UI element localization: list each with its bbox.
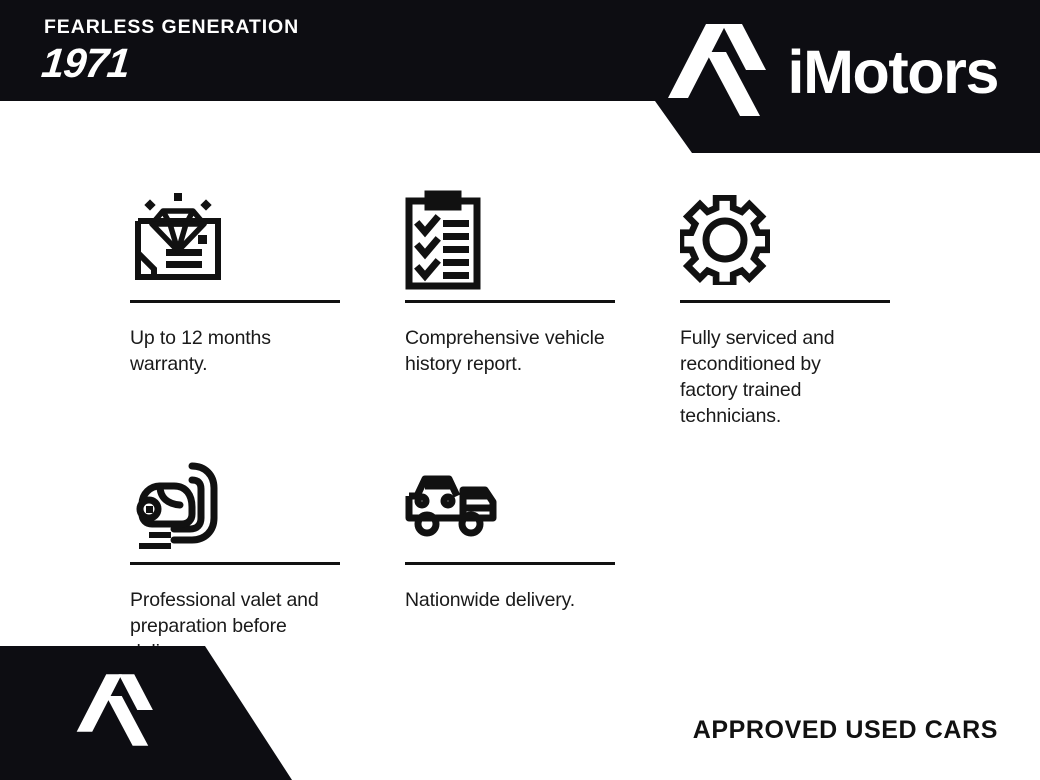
feature-text: Up to 12 months warranty. (130, 325, 345, 377)
feature-item-empty (680, 447, 963, 665)
feature-icon-wrap (130, 185, 413, 300)
header-tagline: FEARLESS GENERATION (44, 18, 344, 38)
gear-cog-icon (680, 195, 770, 290)
feature-divider (405, 300, 615, 303)
imotors-wordmark: iMotors (788, 42, 998, 103)
vacuum-cleaner-icon (130, 452, 222, 557)
feature-icon-wrap (130, 447, 413, 562)
feature-divider (680, 300, 890, 303)
feature-text: Comprehensive vehicle history report. (405, 325, 620, 377)
feature-icon-wrap (680, 185, 963, 300)
features-row-2: Professional valet and preparation befor… (0, 430, 1040, 665)
promo-page: FEARLESS GENERATION 1971 iMotors (0, 0, 1040, 780)
feature-text: Nationwide delivery. (405, 587, 620, 613)
feature-item-delivery: Nationwide delivery. (405, 447, 688, 665)
clipboard-checklist-icon (405, 190, 481, 295)
feature-text: Fully serviced and reconditioned by fact… (680, 325, 865, 430)
features-row-1: Up to 12 months warranty. (0, 155, 1040, 430)
warranty-diamond-certificate-icon (130, 191, 226, 294)
feature-icon-wrap (405, 447, 688, 562)
feature-item-serviced: Fully serviced and reconditioned by fact… (680, 185, 963, 430)
year-1971-logo: 1971 (40, 43, 344, 84)
feature-item-valet: Professional valet and preparation befor… (130, 447, 413, 665)
feature-divider (130, 300, 340, 303)
features-grid: Up to 12 months warranty. (0, 155, 1040, 665)
header-logo[interactable]: iMotors (662, 24, 998, 121)
feature-divider (405, 562, 615, 565)
feature-divider (130, 562, 340, 565)
footer-tagline: APPROVED USED CARS (693, 716, 998, 745)
header-left-brand: FEARLESS GENERATION 1971 (44, 18, 344, 84)
car-transporter-truck-icon (405, 466, 497, 543)
feature-item-warranty: Up to 12 months warranty. (130, 185, 413, 430)
feature-item-history-report: Comprehensive vehicle history report. (405, 185, 688, 430)
feature-icon-wrap (405, 185, 688, 300)
imotors-chevron-logo-icon (662, 24, 770, 121)
footer-imotors-chevron-logo-icon (72, 672, 156, 753)
